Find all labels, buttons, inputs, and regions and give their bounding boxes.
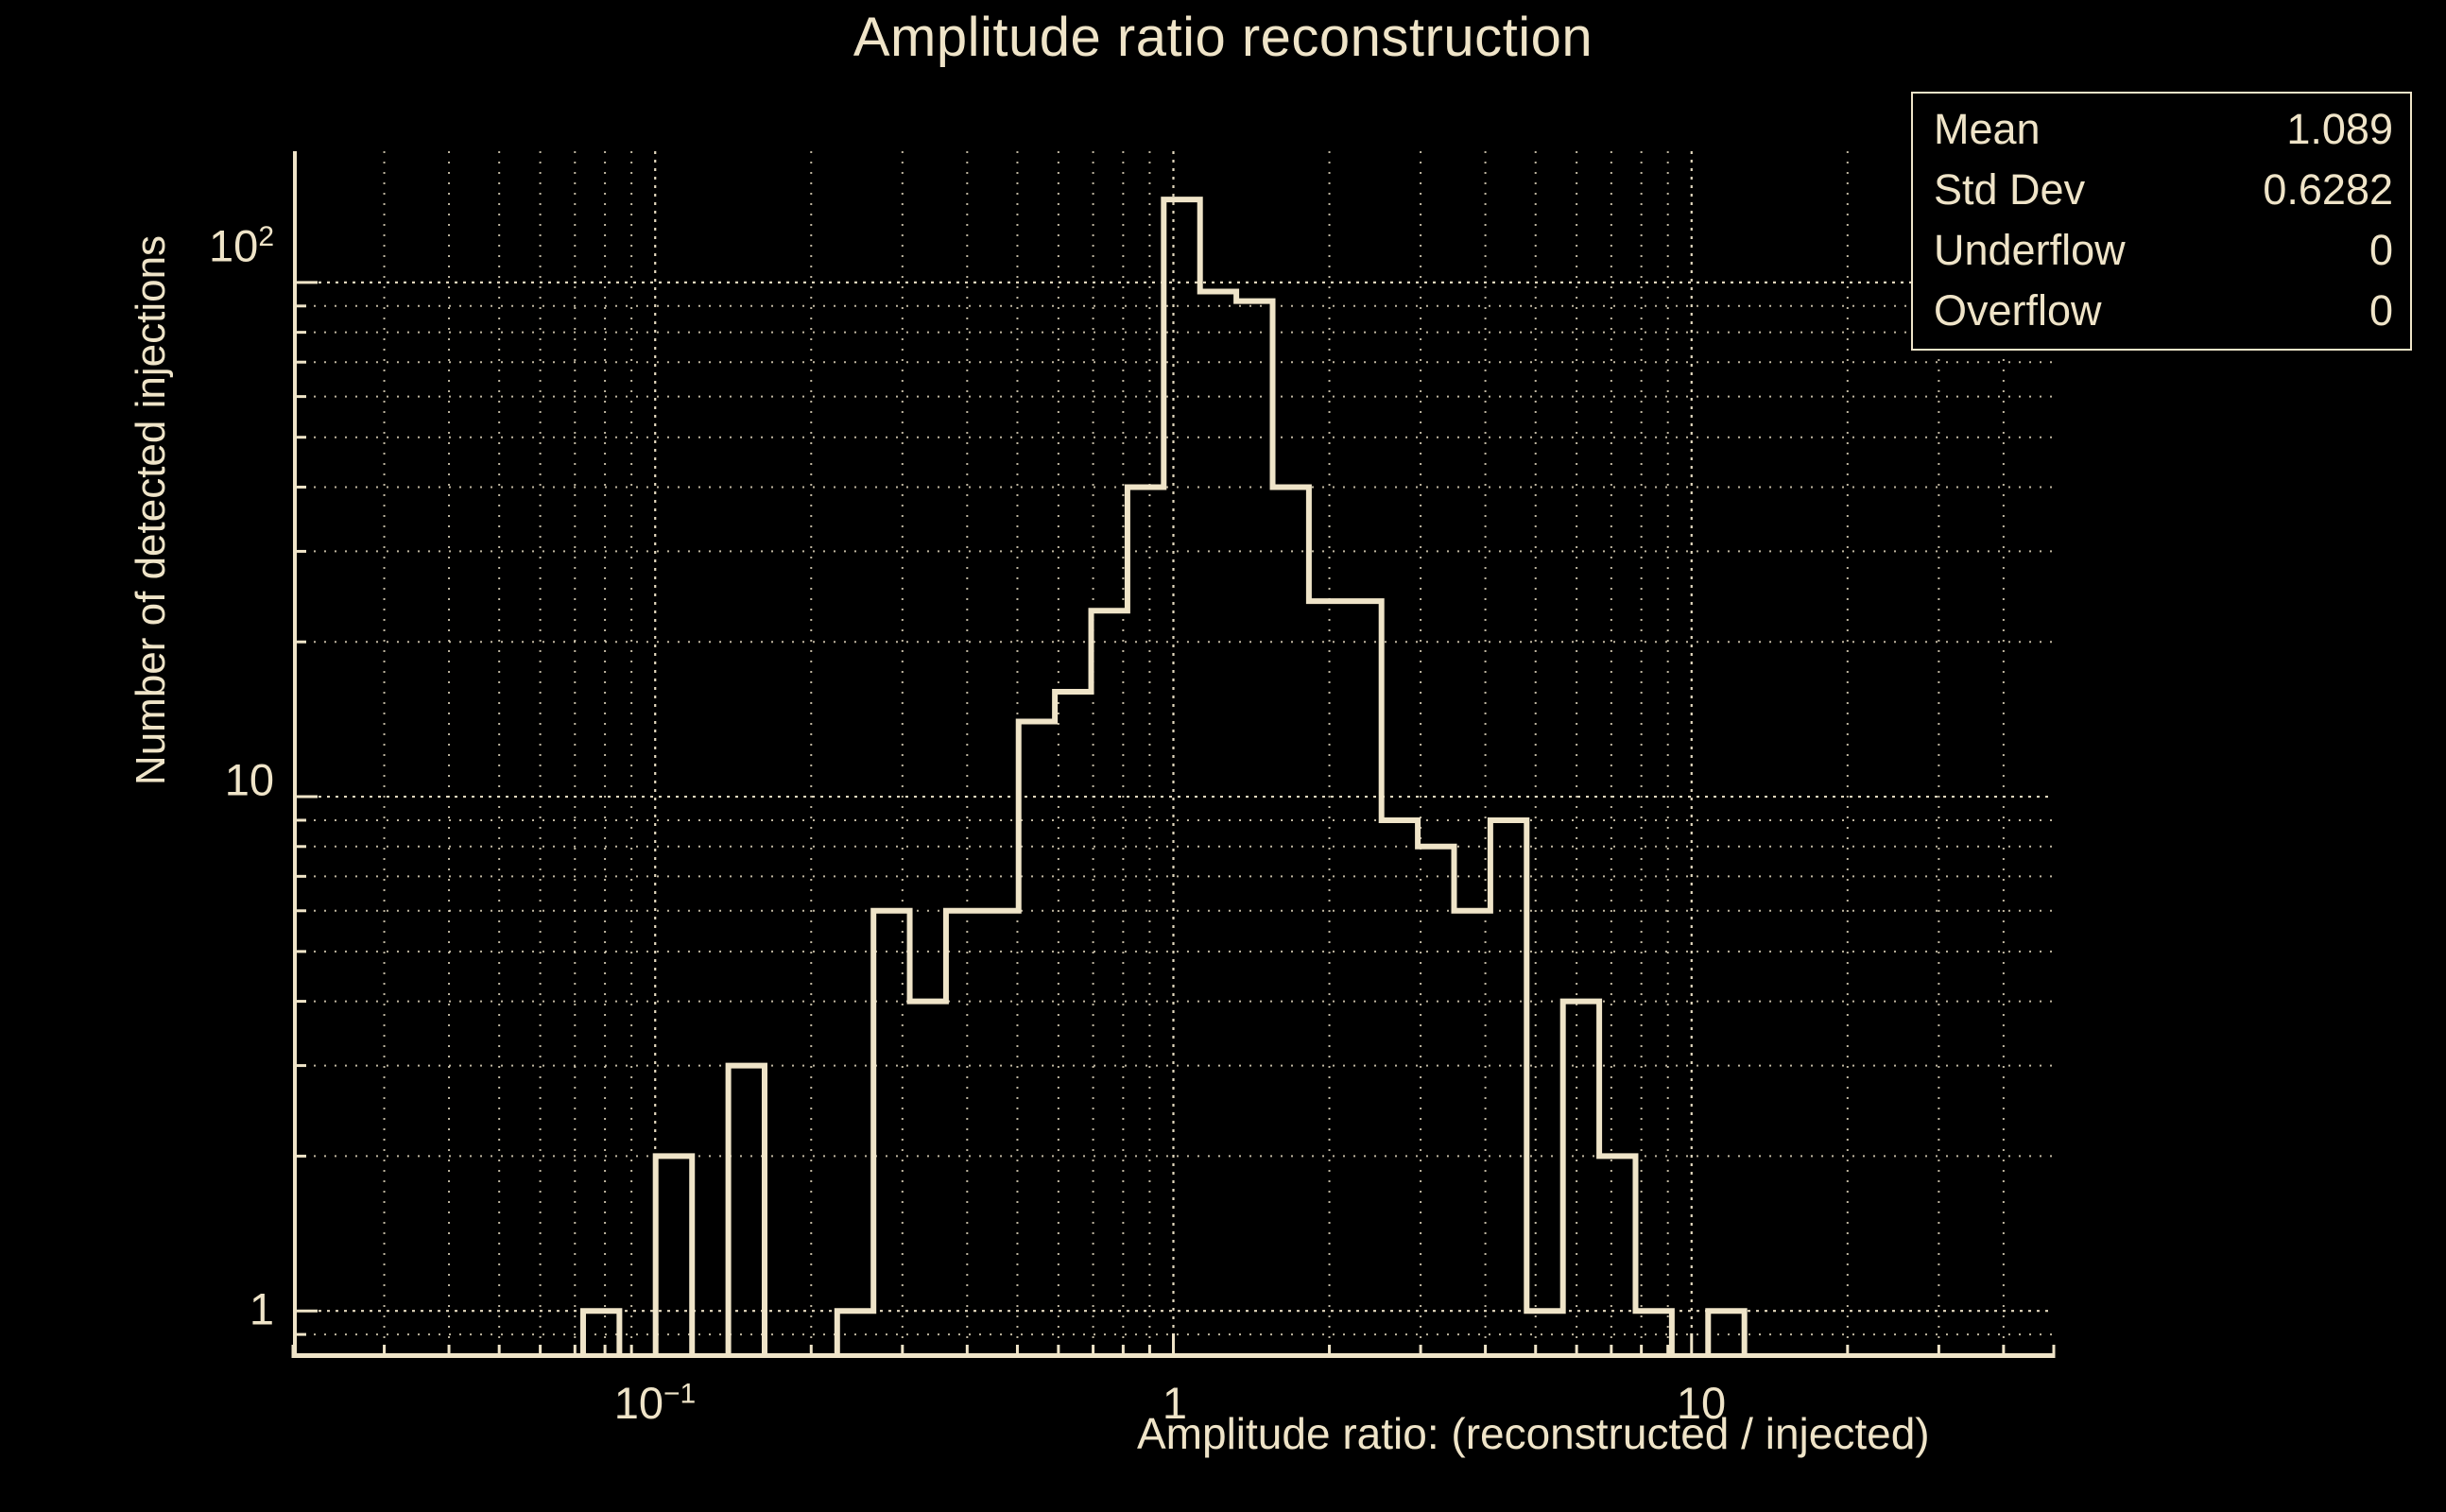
y-tick-label-1: 1 bbox=[250, 1283, 274, 1335]
y-axis-ticklabels: 102 10 1 bbox=[0, 0, 274, 1512]
stat-key: Std Dev bbox=[1934, 160, 2085, 220]
stat-row: Std Dev 0.6282 bbox=[1934, 160, 2393, 220]
stat-value: 1.089 bbox=[2286, 99, 2393, 160]
stat-row: Underflow 0 bbox=[1934, 220, 2393, 281]
page-title: Amplitude ratio reconstruction bbox=[0, 6, 2446, 69]
stat-row: Overflow 0 bbox=[1934, 281, 2393, 341]
stat-key: Mean bbox=[1934, 99, 2041, 160]
plot-frame-border bbox=[293, 151, 2054, 1358]
chart-canvas: Amplitude ratio reconstruction Number of… bbox=[0, 0, 2446, 1512]
stat-row: Mean 1.089 bbox=[1934, 99, 2393, 160]
stat-value: 0 bbox=[2369, 281, 2393, 341]
statistics-box: Mean 1.089 Std Dev 0.6282 Underflow 0 Ov… bbox=[1911, 92, 2412, 351]
x-axis-title: Amplitude ratio: (reconstructed / inject… bbox=[1137, 1408, 1930, 1459]
x-tick-label-0p1: 10−1 bbox=[614, 1377, 697, 1429]
plot-frame bbox=[293, 151, 2054, 1358]
y-tick-label-10: 10 bbox=[225, 754, 274, 806]
y-tick-label-100: 102 bbox=[209, 220, 274, 272]
stat-key: Overflow bbox=[1934, 281, 2102, 341]
stat-value: 0 bbox=[2369, 220, 2393, 281]
stat-key: Underflow bbox=[1934, 220, 2126, 281]
stat-value: 0.6282 bbox=[2263, 160, 2393, 220]
